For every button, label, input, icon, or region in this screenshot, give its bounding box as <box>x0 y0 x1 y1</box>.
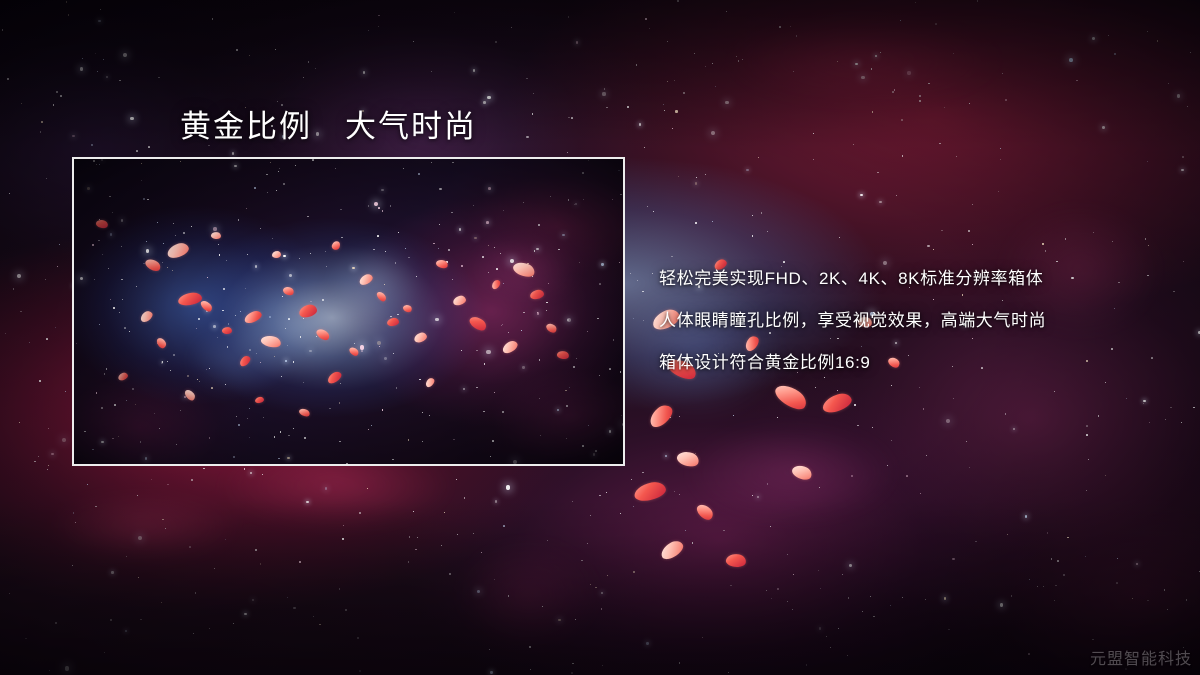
body-line-2: 人体眼睛瞳孔比例，享受视觉效果，高端大气时尚 <box>659 300 1169 342</box>
body-line-3: 箱体设计符合黄金比例16:9 <box>659 342 1169 384</box>
slide-title: 黄金比例 大气时尚 <box>180 101 477 146</box>
slide-canvas: 黄金比例 大气时尚 轻松完美实现FHD、2K、4K、8K标准分辨率箱体 人体眼睛… <box>0 0 1200 675</box>
photo-vignette <box>74 159 623 464</box>
watermark: 元盟智能科技 <box>1090 645 1192 669</box>
body-line-1: 轻松完美实现FHD、2K、4K、8K标准分辨率箱体 <box>659 258 1169 300</box>
body-text-block: 轻松完美实现FHD、2K、4K、8K标准分辨率箱体 人体眼睛瞳孔比例，享受视觉效… <box>659 258 1169 384</box>
framed-photo <box>72 157 625 466</box>
